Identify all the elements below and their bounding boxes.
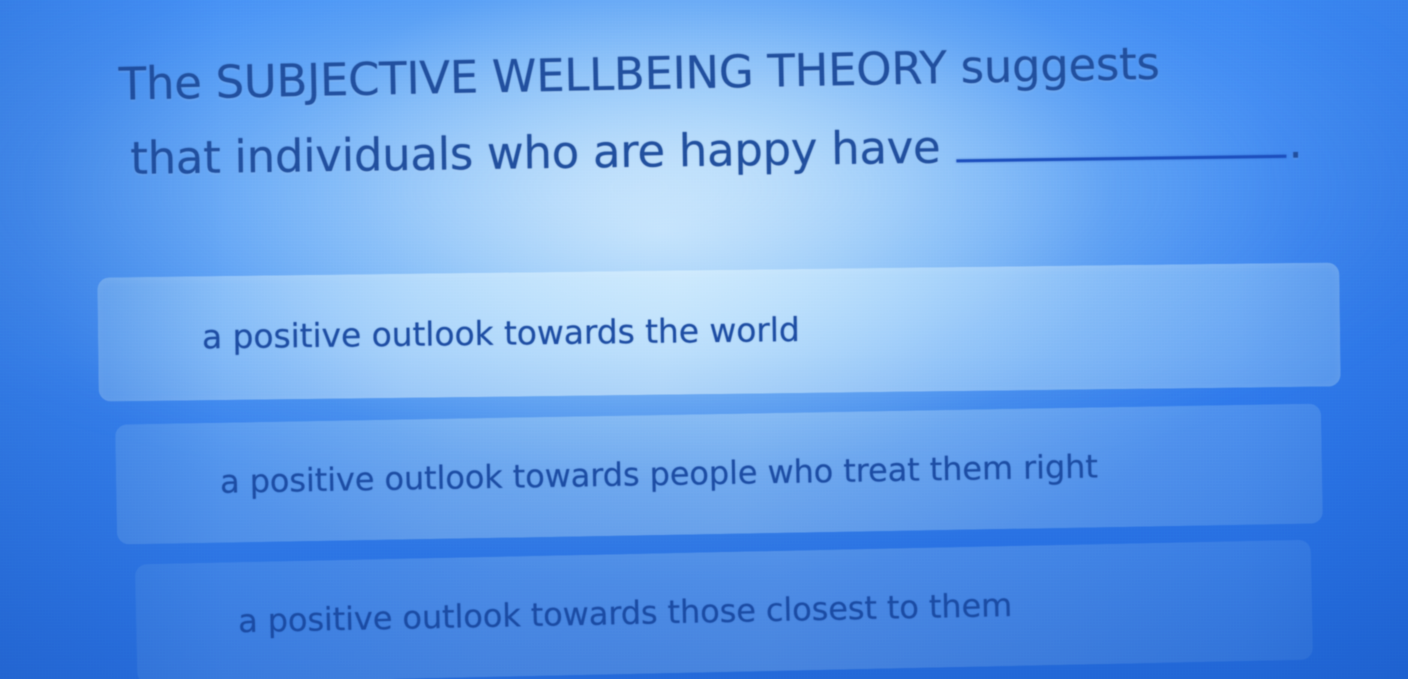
answer-option-1[interactable]: a positive outlook towards the world <box>97 262 1340 401</box>
question-line-2: that individuals who are happy have . <box>106 103 1337 198</box>
answer-option-label-1: a positive outlook towards the world <box>202 310 800 356</box>
answer-blank-line <box>957 155 1287 163</box>
question-line-2-text: that individuals who are happy have <box>130 109 941 198</box>
question-prompt: The SUBJECTIVE WELLBEING THEORY suggests… <box>104 21 1337 202</box>
question-period: . <box>1288 104 1303 182</box>
quiz-screen-photo: The SUBJECTIVE WELLBEING THEORY suggests… <box>0 0 1408 679</box>
answer-option-2[interactable]: a positive outlook towards people who tr… <box>115 403 1323 544</box>
answer-option-3[interactable]: a positive outlook towards those closest… <box>135 540 1313 679</box>
